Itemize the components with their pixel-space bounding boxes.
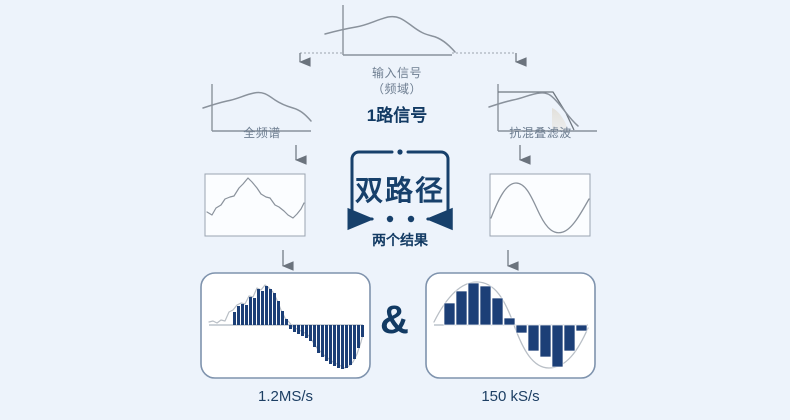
noisy-spectrum-scope	[205, 174, 305, 236]
high-rate-label: 1.2MS/s	[201, 388, 370, 405]
diagram-vector-layer	[0, 0, 790, 420]
anti-alias-filter-label: 抗混叠滤波	[488, 126, 593, 141]
input-signal-label-line1: 输入信号	[347, 66, 447, 81]
ampersand-connector: &	[380, 300, 409, 340]
input-signal-spectrum-chart	[325, 5, 455, 55]
clean-sine-scope	[490, 174, 590, 236]
input-signal-label-line2: （频域）	[347, 82, 447, 97]
one-channel-headline: 1路信号	[347, 101, 447, 126]
anti-alias-filter-chart	[489, 84, 597, 131]
two-results-caption: 两个结果	[350, 230, 450, 250]
full-spectrum-label: 全频谱	[212, 126, 312, 141]
diagram-canvas: 输入信号 （频域） 1路信号 全频谱 抗混叠滤波 双路径 两个结果 & 1.2M…	[0, 0, 790, 420]
dual-path-title: 双路径	[350, 169, 450, 209]
low-rate-result-panel	[426, 273, 595, 378]
low-rate-label: 150 kS/s	[426, 388, 595, 405]
full-spectrum-chart	[203, 84, 311, 131]
high-rate-result-panel	[201, 273, 370, 378]
